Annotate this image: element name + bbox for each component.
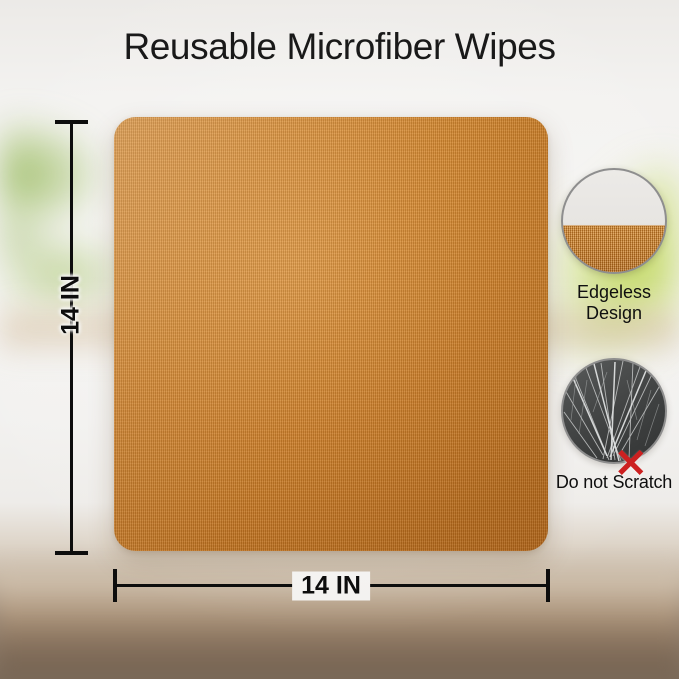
edgeless-circle-icon	[561, 168, 667, 274]
height-dimension-label: 14 IN	[57, 271, 86, 339]
width-dimension-label: 14 IN	[292, 572, 370, 601]
callout-do-not-scratch: ✕ Do not Scratch	[548, 358, 679, 493]
width-dimension-cap-right	[546, 569, 550, 602]
height-dimension-cap-bottom	[55, 551, 88, 555]
product-infographic: Reusable Microfiber Wipes 14 IN 14 IN Ed…	[0, 0, 679, 679]
warning-x-icon: ✕	[614, 444, 648, 484]
callout-edgeless-design: Edgeless Design	[548, 168, 679, 324]
cloth-sheen-overlay	[114, 117, 548, 551]
page-title: Reusable Microfiber Wipes	[0, 26, 679, 68]
callout-edgeless-label: Edgeless Design	[548, 282, 679, 324]
microfiber-cloth	[114, 117, 548, 551]
